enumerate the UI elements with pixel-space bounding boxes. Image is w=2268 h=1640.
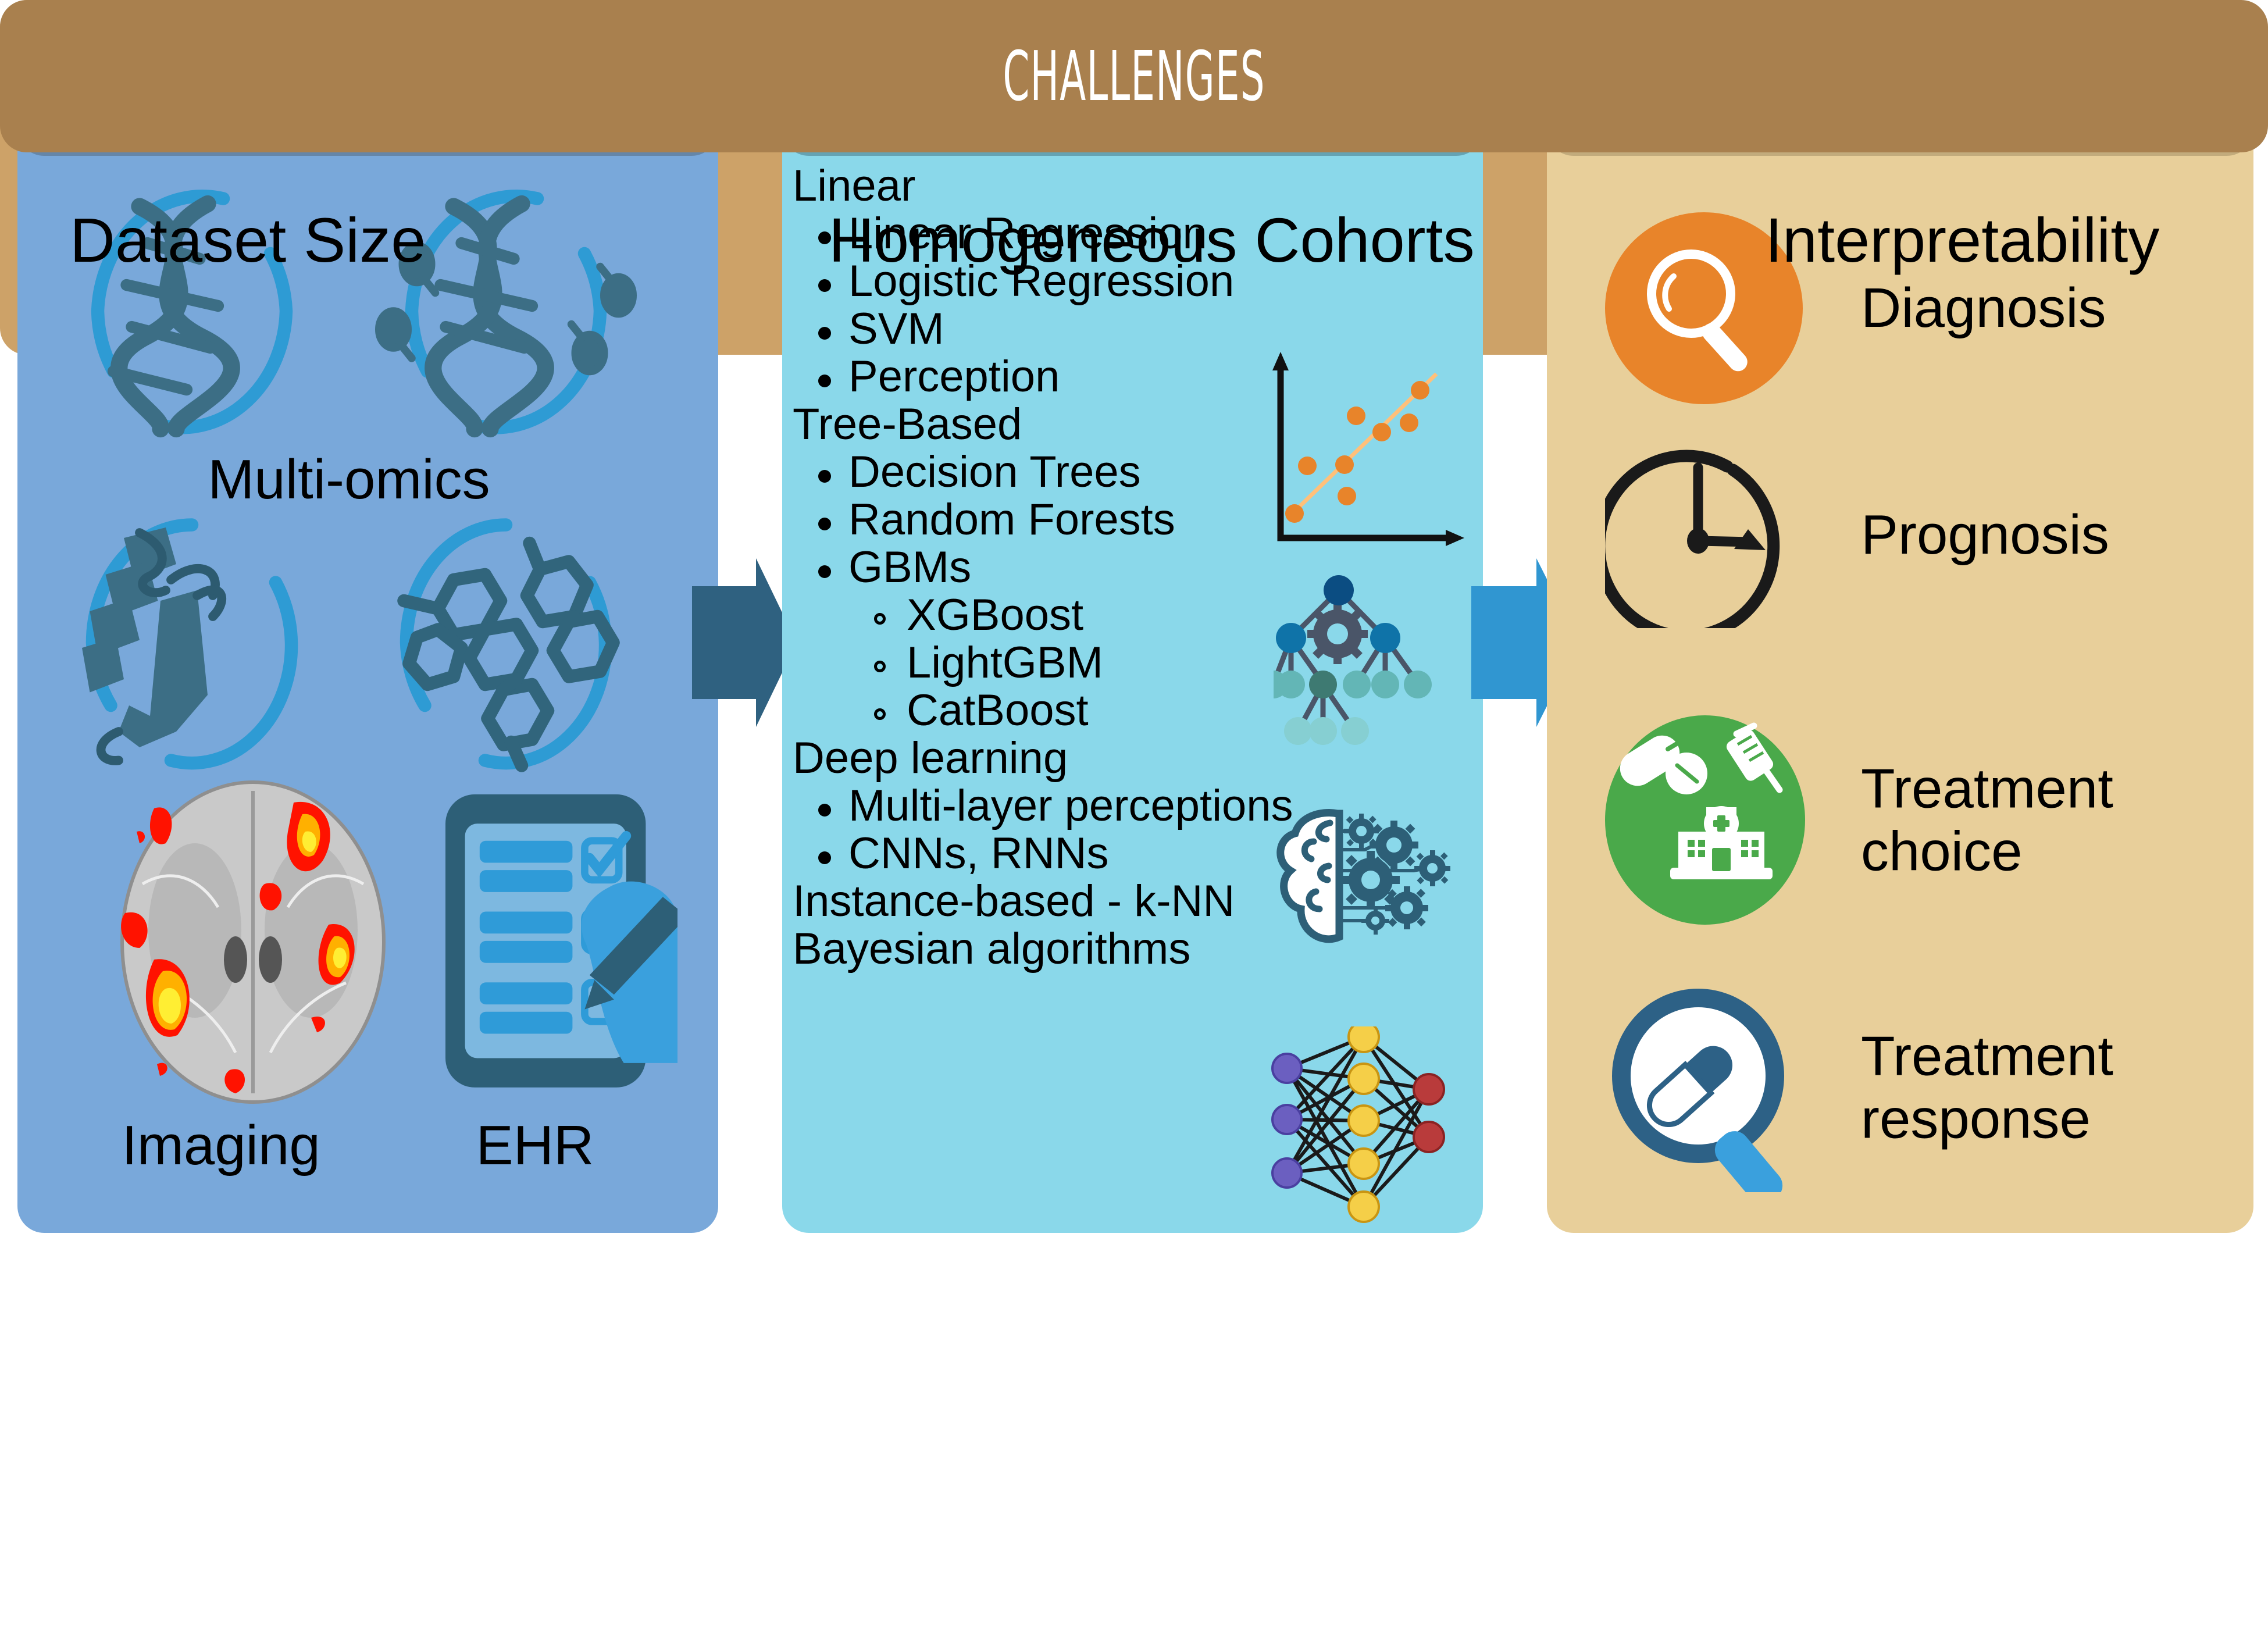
output-label-line2: choice (1861, 820, 2113, 883)
data-panel: DATA (17, 6, 718, 1233)
algorithm-item: Random Forests (848, 498, 1479, 542)
algorithms-group-heading: Deep learning (793, 736, 1479, 780)
algorithm-item: Multi-layer perceptions (848, 784, 1479, 828)
output-label-diagnosis: Diagnosis (1861, 277, 2106, 340)
clock-icon (1605, 442, 1797, 628)
output-label-line2: response (1861, 1088, 2113, 1150)
algorithms-group-heading: Instance-based - k-NN (793, 879, 1479, 924)
challenges-panel-header: CHALLENGES (0, 0, 2268, 152)
algorithm-item: GBMs (848, 546, 1479, 590)
output-label-line1: Treatment (1861, 757, 2113, 820)
challenge-item-homogeneous-cohorts: Homogeneous Cohorts (829, 204, 1475, 276)
algorithm-subitem: XGBoost (907, 593, 1479, 637)
output-item-prognosis: Prognosis (1547, 448, 2253, 622)
algorithm-subitem: CatBoost (907, 689, 1479, 733)
algorithm-item: SVM (848, 307, 1479, 351)
clipboard-checklist-icon (433, 776, 677, 1108)
algorithms-group-heading: Bayesian algorithms (793, 927, 1479, 971)
output-label-treatment-choice: Treatment choice (1861, 757, 2113, 882)
challenge-item-interpretability: Interpretability (1765, 204, 2159, 276)
algorithms-list: Linear Linear Regression Logistic Regres… (793, 164, 1479, 975)
output-label-treatment-response: Treatment response (1861, 1025, 2113, 1150)
algorithms-panel: ALGORITHMS (782, 6, 1483, 1233)
challenges-panel-title: CHALLENGES (1003, 36, 1265, 116)
protein-structure-icon (52, 512, 331, 773)
imaging-label: Imaging (58, 1114, 384, 1178)
multi-omics-label: Multi-omics (87, 448, 611, 512)
algorithm-subitem: LightGBM (907, 641, 1479, 685)
algorithms-group-heading: Tree-Based (793, 402, 1479, 447)
algorithm-item: Perception (848, 355, 1479, 399)
output-label-line1: Treatment (1861, 1025, 2113, 1088)
outputs-panel: OUTPUTS Diagnosis Prognosis (1547, 6, 2253, 1233)
output-item-treatment-response: Treatment response (1547, 971, 2253, 1204)
hospital-pills-icon (1605, 715, 1806, 925)
output-item-treatment-choice: Treatment choice (1547, 704, 2253, 936)
algorithm-item: CNNs, RNNs (848, 832, 1479, 876)
pill-magnifier-icon (1605, 983, 1806, 1192)
algorithms-group-heading: Linear (793, 164, 1479, 208)
algorithm-item: Decision Trees (848, 450, 1479, 494)
data-to-algorithms-arrow (692, 558, 797, 727)
challenge-item-dataset-size: Dataset Size (70, 204, 426, 276)
output-label-prognosis: Prognosis (1861, 504, 2109, 566)
neural-network-icon (1253, 1026, 1480, 1230)
molecule-icon (366, 512, 646, 773)
brain-scan-icon (108, 779, 398, 1105)
ehr-label: EHR (401, 1114, 669, 1178)
